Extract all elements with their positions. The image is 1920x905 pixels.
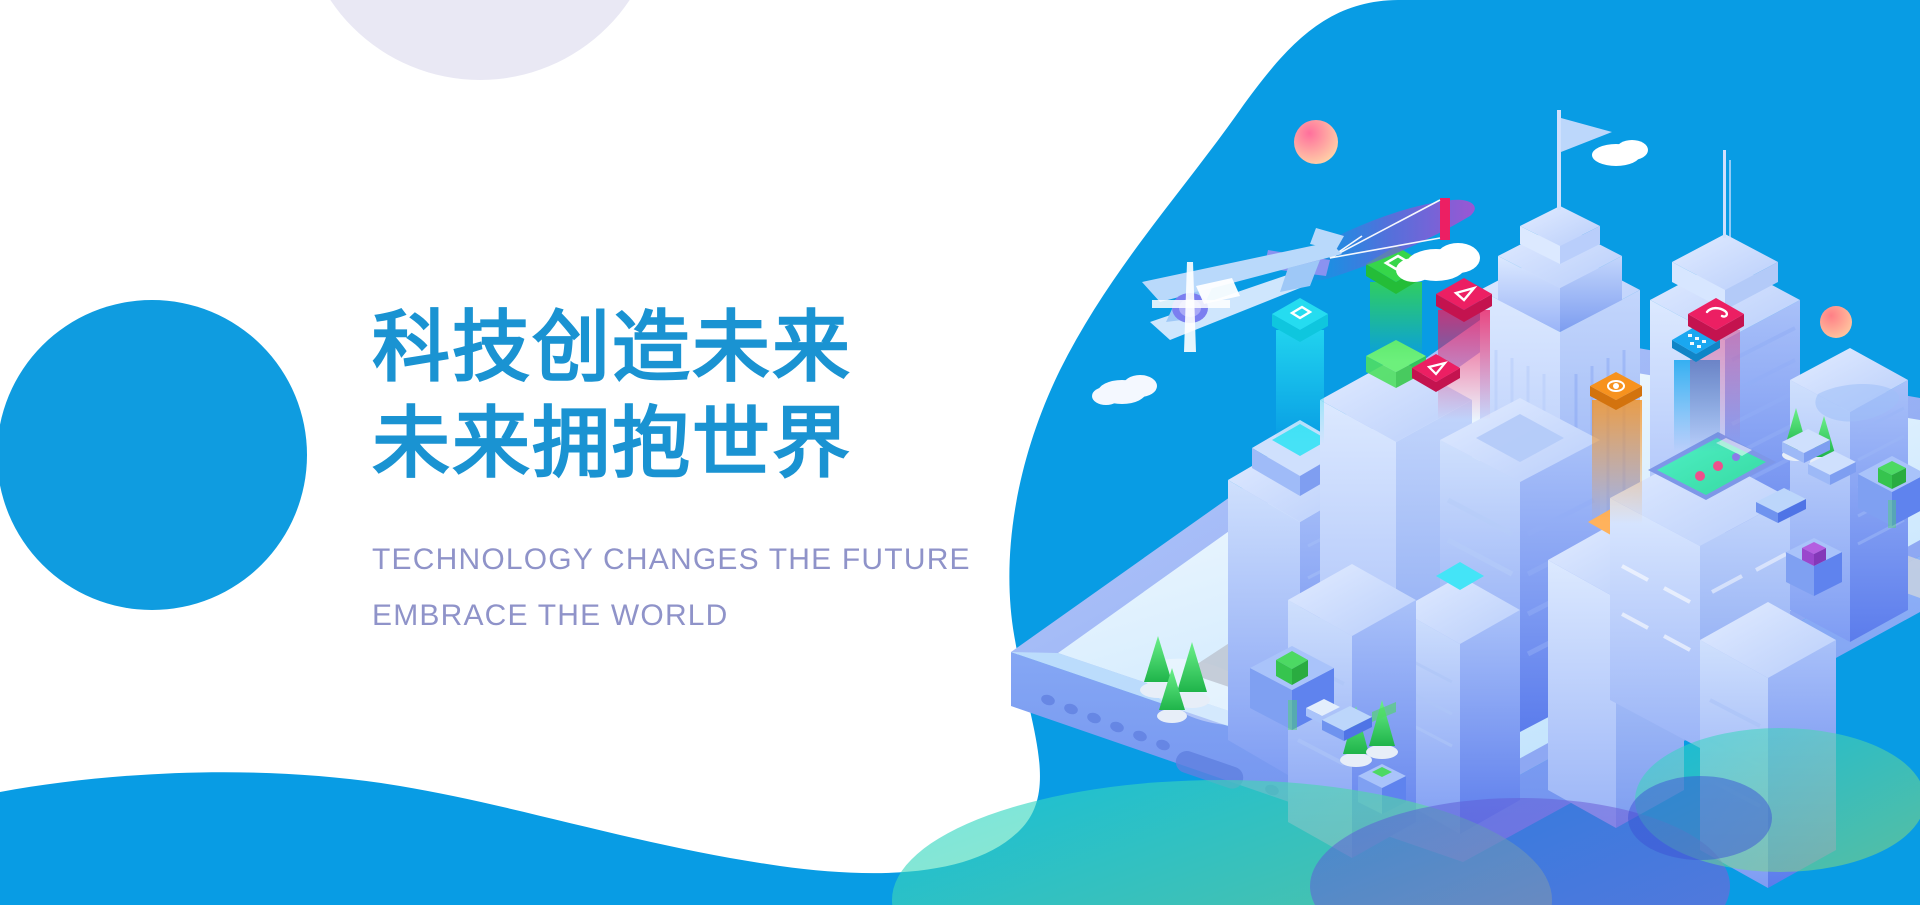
flagpole: [1557, 110, 1561, 210]
page-subtitle: TECHNOLOGY CHANGES THE FUTURE EMBRACE TH…: [372, 532, 1072, 644]
headline-line-2: 未来拥抱世界: [372, 396, 1072, 492]
sphere-peach: [1820, 306, 1852, 338]
blue-accent-circle: [0, 300, 307, 610]
antenna: [1723, 150, 1726, 238]
subtitle-line-1: TECHNOLOGY CHANGES THE FUTURE: [372, 532, 1072, 588]
hero-banner: 科技创造未来 未来拥抱世界 TECHNOLOGY CHANGES THE FUT…: [0, 0, 1920, 905]
blue-ellipse-right: [1628, 776, 1772, 860]
headline-line-1: 科技创造未来: [372, 300, 1072, 396]
banner-copy: 科技创造未来 未来拥抱世界 TECHNOLOGY CHANGES THE FUT…: [372, 300, 1072, 644]
subtitle-line-2: EMBRACE THE WORLD: [372, 588, 1072, 644]
page-title: 科技创造未来 未来拥抱世界: [372, 300, 1072, 492]
sphere-pink: [1294, 120, 1338, 164]
